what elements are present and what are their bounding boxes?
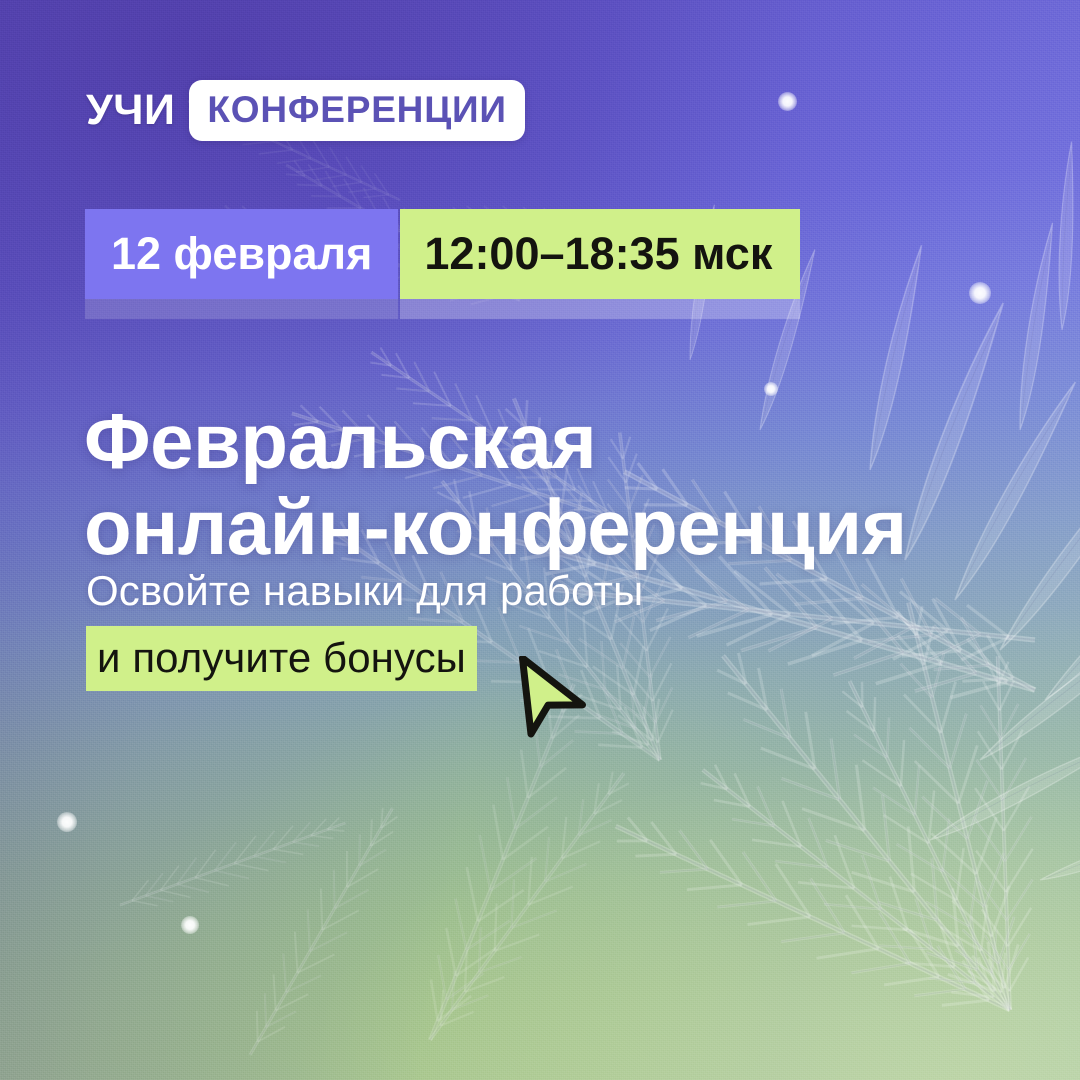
headline-line-1: Февральская — [84, 399, 907, 485]
subtitle-line-2: и получите бонусы — [86, 626, 477, 691]
subtitle: Освойте навыки для работы и получите бон… — [86, 566, 643, 691]
brand-word: УЧИ — [86, 89, 175, 132]
brand-logo: УЧИ КОНФЕРЕНЦИИ — [86, 80, 525, 141]
banner-content: УЧИ КОНФЕРЕНЦИИ 12 февраля 12:00–18:35 м… — [0, 0, 1080, 1080]
subtitle-line-1: Освойте навыки для работы — [86, 566, 643, 616]
event-badges: 12 февраля 12:00–18:35 мск — [85, 209, 800, 299]
event-date-badge: 12 февраля — [85, 209, 398, 299]
brand-pill-label: КОНФЕРЕНЦИИ — [189, 80, 524, 141]
headline-line-2: онлайн-конференция — [84, 485, 907, 571]
promo-banner: УЧИ КОНФЕРЕНЦИИ 12 февраля 12:00–18:35 м… — [0, 0, 1080, 1080]
event-time-badge: 12:00–18:35 мск — [400, 209, 800, 299]
page-title: Февральская онлайн-конференция — [84, 399, 907, 571]
subtitle-line-2-wrap: и получите бонусы — [86, 626, 643, 691]
